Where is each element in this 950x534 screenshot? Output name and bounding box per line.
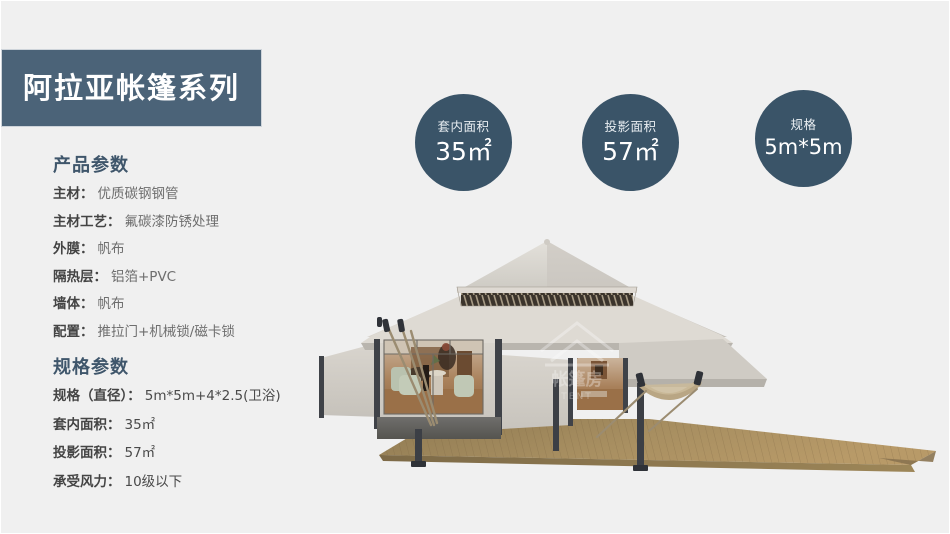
tent-illustration: 帐篷房 TENT <box>319 239 950 489</box>
param-value: 铝箔+PVC <box>111 269 176 285</box>
page-title: 阿拉亚帐篷系列 <box>23 74 240 103</box>
param-value: 帆布 <box>98 241 125 257</box>
spec-value: 5m*5m+4*2.5(卫浴) <box>145 388 281 404</box>
param-row-wall: 墙体：帆布 <box>53 298 353 312</box>
param-value: 氟碳漆防锈处理 <box>125 214 220 230</box>
watermark-text: 帐篷房 <box>552 369 603 390</box>
param-label: 配置： <box>53 324 94 340</box>
spec-params-heading: 规格参数 <box>53 359 353 377</box>
param-label: 外膜： <box>53 241 94 257</box>
spec-row-dimensions: 规格（直径）：5m*5m+4*2.5(卫浴) <box>53 390 353 404</box>
param-value: 推拉门+机械锁/磁卡锁 <box>98 324 235 340</box>
stat-circle-label: 套内面积 <box>437 121 489 134</box>
stat-circle-interior-area: 套内面积 35㎡ <box>415 94 512 191</box>
param-row-main-material: 主材：优质碳钢钢管 <box>53 188 353 202</box>
stat-circle-label: 投影面积 <box>604 121 656 134</box>
spec-row-wind-resistance: 承受风力：10级以下 <box>53 476 353 490</box>
spec-label: 规格（直径）： <box>53 388 141 404</box>
stat-circle-value: 57㎡ <box>602 139 659 164</box>
param-row-configuration: 配置：推拉门+机械锁/磁卡锁 <box>53 326 353 340</box>
spec-params-block: 规格参数 规格（直径）：5m*5m+4*2.5(卫浴) 套内面积：35㎡ 投影面… <box>53 359 353 489</box>
front-facade <box>374 339 502 439</box>
stat-circle-value: 5m*5m <box>764 137 842 158</box>
stat-circle-projected-area: 投影面积 57㎡ <box>582 94 679 191</box>
product-params-list: 主材：优质碳钢钢管 主材工艺：氟碳漆防锈处理 外膜：帆布 隔热层：铝箔+PVC … <box>53 188 353 339</box>
spec-value: 57㎡ <box>125 445 156 461</box>
product-params-heading: 产品参数 <box>53 157 353 175</box>
spec-params-list: 规格（直径）：5m*5m+4*2.5(卫浴) 套内面积：35㎡ 投影面积：57㎡… <box>53 390 353 489</box>
stat-circle-label: 规格 <box>790 119 816 132</box>
spec-label: 承受风力： <box>53 474 121 490</box>
watermark-subtext: TENT <box>560 392 592 402</box>
param-value: 优质碳钢钢管 <box>98 186 179 202</box>
spec-value: 35㎡ <box>125 417 156 433</box>
page-root: 阿拉亚帐篷系列 产品参数 主材：优质碳钢钢管 主材工艺：氟碳漆防锈处理 外膜：帆… <box>0 0 950 534</box>
spec-row-projected-area: 投影面积：57㎡ <box>53 447 353 461</box>
param-label: 主材： <box>53 186 94 202</box>
stat-circle-dimensions: 规格 5m*5m <box>755 90 852 187</box>
param-label: 主材工艺： <box>53 214 121 230</box>
param-label: 墙体： <box>53 296 94 312</box>
spec-value: 10级以下 <box>125 474 183 490</box>
cupola-roof <box>457 239 637 306</box>
spec-row-interior-area: 套内面积：35㎡ <box>53 419 353 433</box>
spec-column: 产品参数 主材：优质碳钢钢管 主材工艺：氟碳漆防锈处理 外膜：帆布 隔热层：铝箔… <box>53 157 353 504</box>
spec-label: 套内面积： <box>53 417 121 433</box>
product-params-block: 产品参数 主材：优质碳钢钢管 主材工艺：氟碳漆防锈处理 外膜：帆布 隔热层：铝箔… <box>53 157 353 339</box>
param-row-material-process: 主材工艺：氟碳漆防锈处理 <box>53 216 353 230</box>
param-label: 隔热层： <box>53 269 107 285</box>
stat-circle-value: 35㎡ <box>435 139 492 164</box>
param-value: 帆布 <box>98 296 125 312</box>
title-banner: 阿拉亚帐篷系列 <box>1 49 262 127</box>
param-row-outer-membrane: 外膜：帆布 <box>53 243 353 257</box>
param-row-insulation-layer: 隔热层：铝箔+PVC <box>53 271 353 285</box>
spec-label: 投影面积： <box>53 445 121 461</box>
